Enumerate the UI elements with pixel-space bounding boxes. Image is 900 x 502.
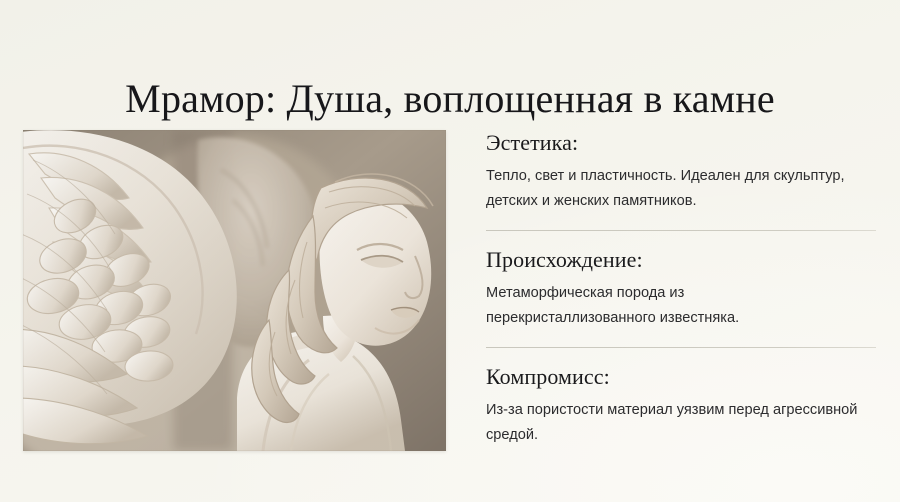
section-body-aesthetics: Тепло, свет и пластичность. Идеален для … <box>486 164 858 214</box>
content-column: Эстетика: Тепло, свет и пластичность. Ид… <box>486 128 878 448</box>
section-tradeoff: Компромисс: Из-за пористости материал уя… <box>486 362 878 448</box>
section-origin: Происхождение: Метаморфическая порода из… <box>486 245 878 331</box>
section-body-tradeoff: Из-за пористости материал уязвим перед а… <box>486 398 858 448</box>
section-divider-1 <box>486 230 876 231</box>
marble-angel-statue-photo <box>23 130 446 451</box>
slide-root: Мрамор: Душа, воплощенная в камне <box>0 0 900 502</box>
page-title: Мрамор: Душа, воплощенная в камне <box>0 75 900 123</box>
statue-illustration <box>23 130 446 451</box>
section-divider-2 <box>486 347 876 348</box>
section-heading-origin: Происхождение: <box>486 245 878 275</box>
section-heading-tradeoff: Компромисс: <box>486 362 878 392</box>
section-heading-aesthetics: Эстетика: <box>486 128 878 158</box>
section-aesthetics: Эстетика: Тепло, свет и пластичность. Ид… <box>486 128 878 214</box>
section-body-origin: Метаморфическая порода из перекристаллиз… <box>486 281 858 331</box>
